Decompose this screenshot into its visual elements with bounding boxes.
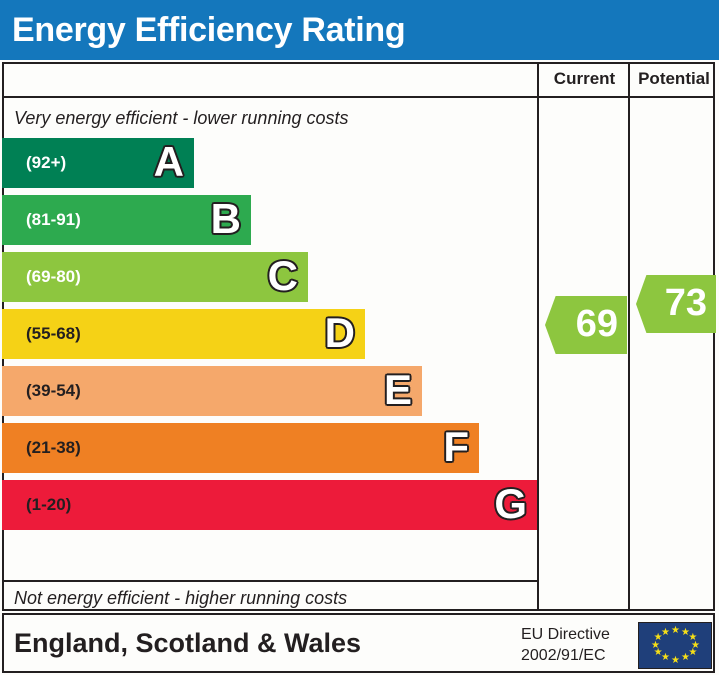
title-bar: Energy Efficiency Rating <box>0 0 719 60</box>
band-range-c: (69-80) <box>26 267 81 287</box>
band-range-d: (55-68) <box>26 324 81 344</box>
eu-flag-star: ★ <box>671 657 679 665</box>
column-header-potential: Potential <box>631 62 717 96</box>
band-letter-f: F <box>443 426 469 468</box>
caption-divider <box>2 580 537 582</box>
band-range-e: (39-54) <box>26 381 81 401</box>
band-range-b: (81-91) <box>26 210 81 230</box>
caption-efficient: Very energy efficient - lower running co… <box>14 108 349 129</box>
band-range-a: (92+) <box>26 153 66 173</box>
eu-flag-star: ★ <box>681 654 689 662</box>
band-a: (92+)A <box>2 138 194 188</box>
eu-flag-icon: ★★★★★★★★★★★★ <box>638 622 712 669</box>
band-d: (55-68)D <box>2 309 365 359</box>
page-title: Energy Efficiency Rating <box>12 8 405 52</box>
band-f: (21-38)F <box>2 423 479 473</box>
band-b: (81-91)B <box>2 195 251 245</box>
band-range-g: (1-20) <box>26 495 71 515</box>
potential-rating-arrow: 73 <box>636 275 716 333</box>
directive-line-2: 2002/91/EC <box>521 645 610 666</box>
band-letter-e: E <box>384 369 412 411</box>
column-divider-potential <box>628 62 630 611</box>
energy-efficiency-rating-certificate: Energy Efficiency Rating Current Potenti… <box>0 0 719 675</box>
column-header-row: Current Potential <box>2 62 715 98</box>
footer-directive: EU Directive 2002/91/EC <box>521 624 610 666</box>
band-letter-a: A <box>154 141 184 183</box>
band-letter-c: C <box>268 255 298 297</box>
caption-inefficient: Not energy efficient - higher running co… <box>14 588 347 609</box>
footer-region-label: England, Scotland & Wales <box>14 626 361 660</box>
column-divider-current <box>537 62 539 611</box>
eu-flag-star: ★ <box>671 627 679 635</box>
band-g: (1-20)G <box>2 480 537 530</box>
current-rating-value: 69 <box>576 305 618 343</box>
band-range-f: (21-38) <box>26 438 81 458</box>
band-letter-d: D <box>325 312 355 354</box>
band-letter-g: G <box>494 483 527 525</box>
column-header-current: Current <box>540 62 629 96</box>
band-letter-b: B <box>211 198 241 240</box>
band-e: (39-54)E <box>2 366 422 416</box>
current-rating-arrow: 69 <box>545 296 627 354</box>
directive-line-1: EU Directive <box>521 624 610 645</box>
potential-rating-value: 73 <box>665 284 707 322</box>
eu-flag-star: ★ <box>661 629 669 637</box>
band-c: (69-80)C <box>2 252 308 302</box>
